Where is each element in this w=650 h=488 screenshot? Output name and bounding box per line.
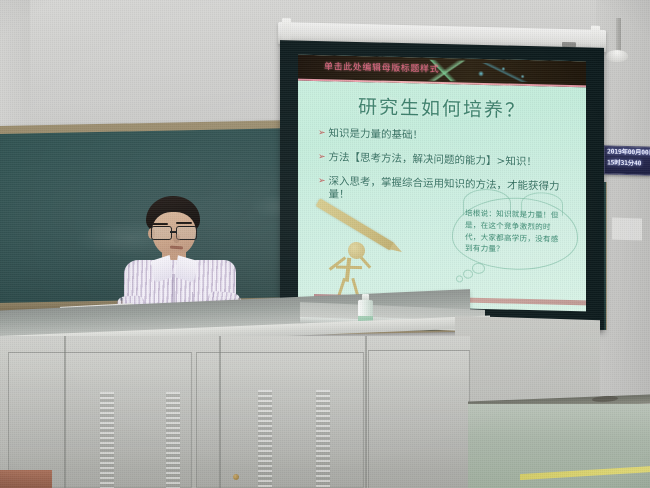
- lecturer-eyebrow-left: [152, 223, 168, 225]
- bullet-marker-icon: ➢: [318, 175, 326, 187]
- wall-notice: [612, 217, 642, 240]
- slide-bullet-item: ➢ 方法【思考方法，解决问题的能力】>知识！: [318, 151, 580, 170]
- projector-screen: 单击此处编辑母版标题样式 研究生如何培养？ ➢ 知识是力量的基础！ ➢ 方法【思…: [280, 40, 604, 330]
- lecturer-nose: [173, 234, 180, 243]
- led-clock: 2019年00月00日 15时31分40: [604, 145, 650, 175]
- thought-bubble-tail: [472, 263, 485, 274]
- podium-door[interactable]: [196, 352, 364, 488]
- podium-door[interactable]: [368, 350, 470, 488]
- podium-divider: [64, 336, 66, 488]
- mascot-head: [348, 242, 365, 259]
- slide-banner-underline: [298, 79, 586, 88]
- projected-slide: 单击此处编辑母版标题样式 研究生如何培养？ ➢ 知识是力量的基础！ ➢ 方法【思…: [298, 55, 586, 312]
- podium-divider: [219, 336, 221, 488]
- lecturer-eyebrow-right: [176, 222, 192, 224]
- thought-bubble-tail: [456, 275, 463, 282]
- cabinet-lock-icon[interactable]: [233, 474, 239, 480]
- clock-time: 15时31分40: [605, 157, 650, 169]
- thought-bubble-tail: [463, 269, 473, 278]
- podium-vent: [258, 390, 272, 488]
- thought-bubble-text: 培根说：知识就是力量！但是，在这个竞争激烈的时代，大家都高学历，没有感到有力量？: [465, 208, 563, 257]
- glasses-lens-left: [151, 226, 172, 240]
- bullet-marker-icon: ➢: [318, 127, 326, 139]
- pencil-mascot-icon: [306, 205, 402, 303]
- slide-master-title: 单击此处编辑母版标题样式: [324, 59, 439, 75]
- ceiling-mount-bracket: [616, 18, 621, 52]
- slide-title: 研究生如何培养？: [298, 91, 586, 125]
- podium-vent: [166, 392, 180, 488]
- podium-vent: [316, 390, 330, 488]
- podium-divider: [365, 336, 367, 488]
- slide-bullet-item: ➢ 知识是力量的基础！: [318, 127, 580, 146]
- bullet-text: 知识是力量的基础！: [329, 127, 424, 142]
- thought-bubble: 培根说：知识就是力量！但是，在这个竞争激烈的时代，大家都高学历，没有感到有力量？: [452, 196, 576, 285]
- classroom-photo-scene: 2019年00月00日 15时31分40 单击此处编辑母版标题样式 研究生如何培…: [0, 0, 650, 488]
- left-floor-edge: [0, 470, 52, 488]
- bullet-text: 方法【思考方法，解决问题的能力】>知识！: [329, 151, 537, 169]
- ceiling-light-icon: [606, 50, 628, 62]
- bullet-marker-icon: ➢: [318, 151, 326, 163]
- podium-vent: [100, 392, 114, 488]
